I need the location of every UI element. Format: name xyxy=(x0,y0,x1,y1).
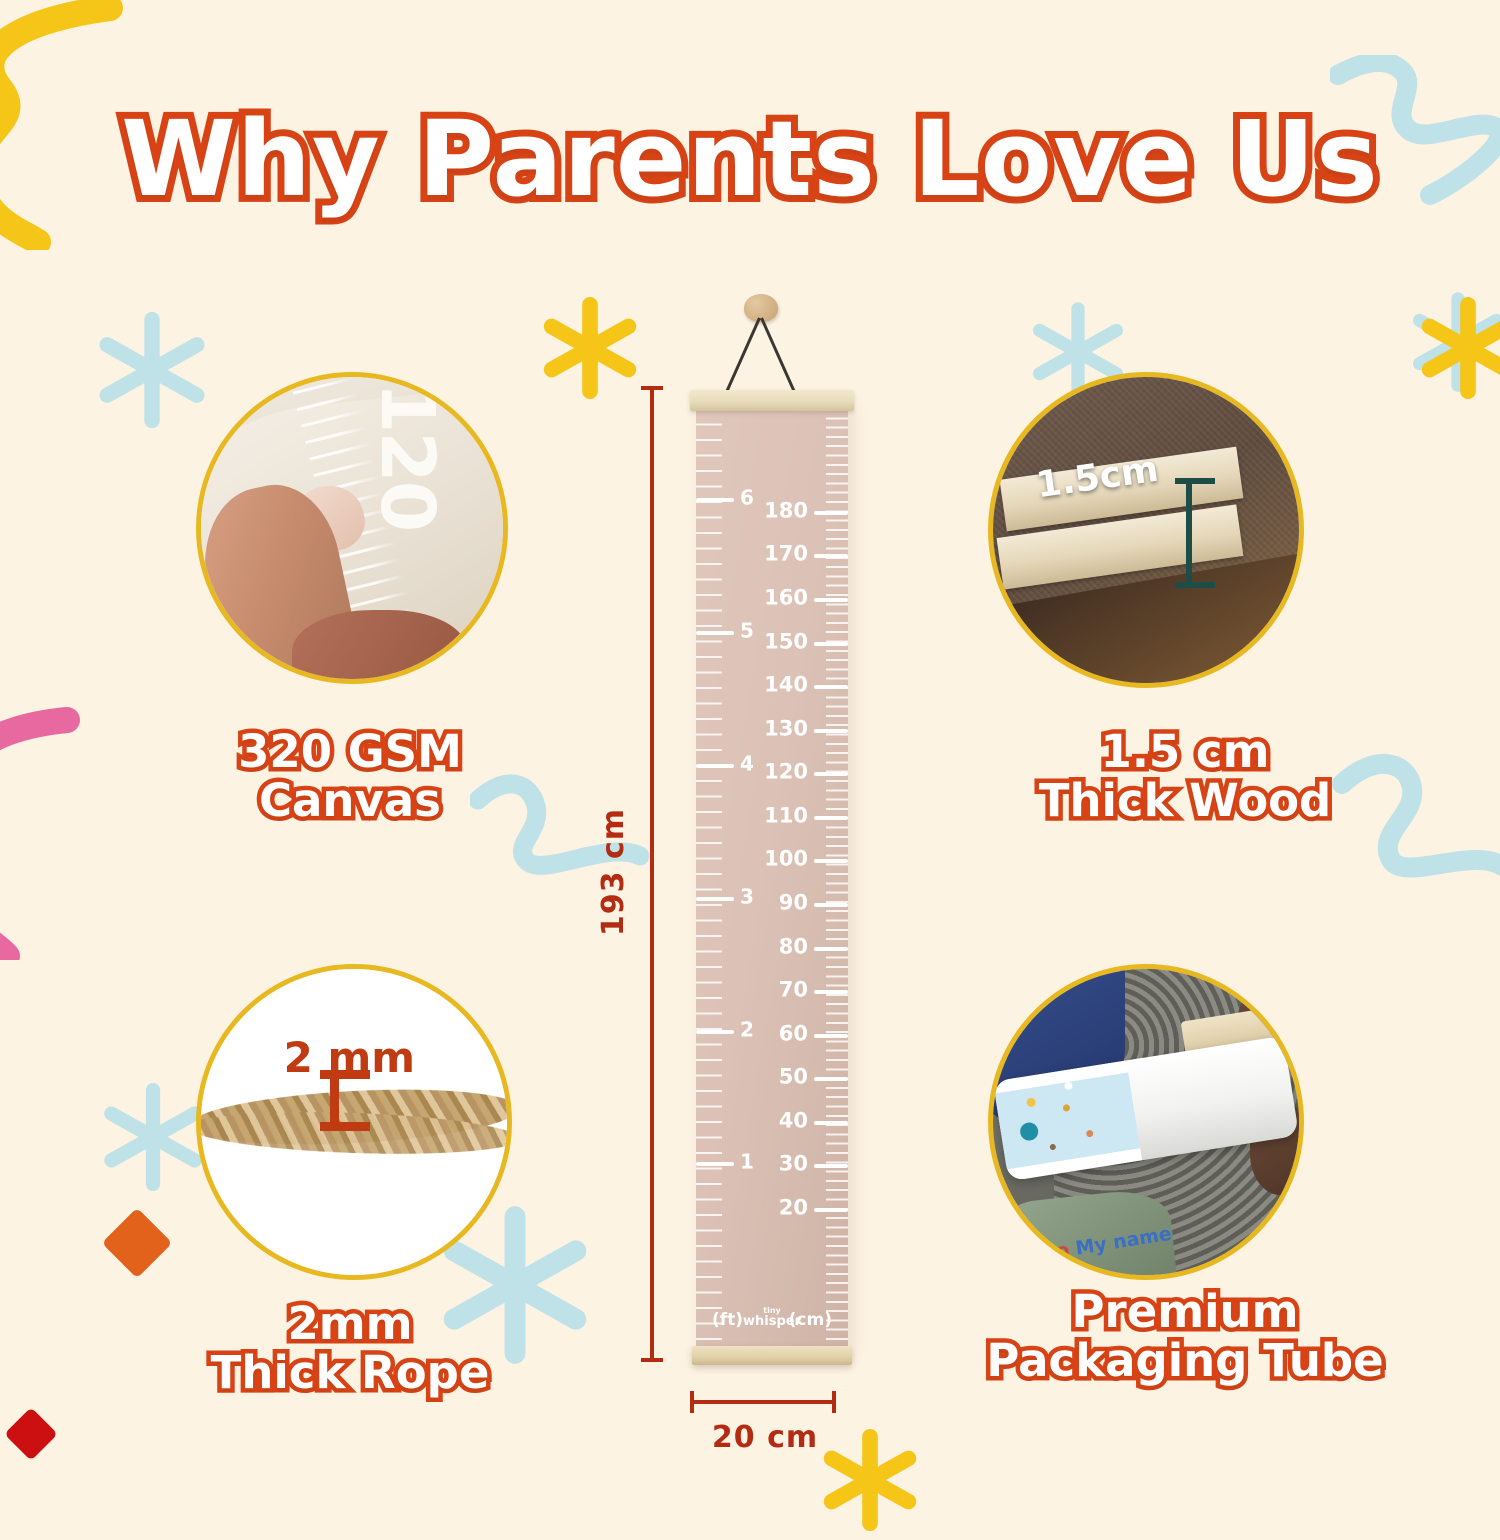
brand-logo: tiny whisper xyxy=(696,1307,848,1328)
feature-label-canvas: 320 GSM Canvas xyxy=(130,728,570,825)
feature-label-tube-line1: Premium xyxy=(945,1288,1425,1337)
photo-packaging-tube: Hello My name xyxy=(988,964,1304,1280)
canvas-ruler-number: 120 xyxy=(365,382,451,530)
cm-major-tick xyxy=(814,903,848,907)
feet-major-tick xyxy=(696,1162,734,1166)
cm-scale-label: 80 xyxy=(779,934,808,958)
cm-major-tick xyxy=(814,1077,848,1081)
yellow-sparkle-decoration-right xyxy=(1408,288,1500,408)
wood-dowel-bottom-bar xyxy=(692,1346,852,1365)
feature-label-rope-line2: Thick Rope xyxy=(130,1349,570,1398)
growth-chart-product: 654321 180170160150140130120110100908070… xyxy=(640,290,900,1470)
cm-scale-label: 150 xyxy=(764,629,808,653)
tube-label-band xyxy=(993,1060,1142,1181)
wood-photo-content: 1.5cm xyxy=(993,377,1299,683)
blue-sparkle-decoration-farright xyxy=(1398,282,1500,402)
cm-scale-label: 110 xyxy=(764,803,808,827)
cm-scale-label: 20 xyxy=(779,1196,808,1220)
height-dimension-line xyxy=(650,386,654,1362)
yellow-sparkle-decoration-center xyxy=(530,288,650,408)
cm-scale-label: 100 xyxy=(764,847,808,871)
feet-major-tick xyxy=(696,631,734,635)
cm-scale-label: 90 xyxy=(779,891,808,915)
cm-major-tick xyxy=(814,729,848,733)
feature-label-wood-line1: 1.5 cm xyxy=(960,728,1410,777)
feature-label-wood: 1.5 cm Thick Wood xyxy=(960,728,1410,825)
cm-scale-label: 140 xyxy=(764,673,808,697)
page-title-text: Why Parents Love Us xyxy=(121,98,1379,220)
cm-major-tick xyxy=(814,859,848,863)
cm-major-tick xyxy=(814,772,848,776)
feet-scale-label: 5 xyxy=(740,619,754,643)
photo-wood-thickness: 1.5cm xyxy=(988,372,1304,688)
cm-scale-label: 30 xyxy=(779,1152,808,1176)
feet-major-tick xyxy=(696,498,734,502)
width-dimension-label: 20 cm xyxy=(640,1420,890,1455)
growth-chart-canvas: 654321 180170160150140130120110100908070… xyxy=(696,408,848,1352)
feature-label-rope: 2mm Thick Rope xyxy=(130,1300,570,1397)
cm-scale-label: 50 xyxy=(779,1065,808,1089)
canvas-photo-content: 120 xyxy=(201,377,503,679)
cm-major-tick xyxy=(814,1034,848,1038)
feature-label-wood-line2: Thick Wood xyxy=(960,777,1410,826)
cm-scale-label: 160 xyxy=(764,586,808,610)
cm-scale-label: 40 xyxy=(779,1108,808,1132)
tube-photo-content: Hello My name xyxy=(993,969,1299,1275)
cm-major-tick xyxy=(814,990,848,994)
red-diamond-decoration xyxy=(4,1407,58,1461)
cm-scale-label: 70 xyxy=(779,978,808,1002)
feature-label-canvas-line1: 320 GSM xyxy=(130,728,570,777)
wood-measure-bracket-icon xyxy=(1186,478,1226,588)
hanging-rope-right xyxy=(760,317,796,393)
photo-canvas-material: 120 xyxy=(196,372,508,684)
hanging-rope-left xyxy=(725,317,761,393)
feet-tick-marks xyxy=(696,408,722,1352)
photo-rope-thickness: 2 mm xyxy=(196,964,512,1280)
feet-scale-label: 4 xyxy=(740,751,754,775)
feature-label-tube-line2: Packaging Tube xyxy=(945,1337,1425,1386)
feet-scale-label: 2 xyxy=(740,1017,754,1041)
cm-scale-label: 60 xyxy=(779,1021,808,1045)
cm-major-tick xyxy=(814,1121,848,1125)
feet-major-tick xyxy=(696,897,734,901)
cm-major-tick xyxy=(814,1208,848,1212)
cm-major-tick xyxy=(814,816,848,820)
wood-dowel-top-bar xyxy=(690,390,854,411)
orange-diamond-decoration xyxy=(102,1208,173,1279)
brand-name-bottom: whisper xyxy=(696,1315,848,1328)
cm-scale-label: 170 xyxy=(764,542,808,566)
width-dimension-line xyxy=(690,1400,836,1404)
feet-major-tick xyxy=(696,764,734,768)
cm-scale-label: 130 xyxy=(764,716,808,740)
cm-major-tick xyxy=(814,1164,848,1168)
feature-label-tube: Premium Packaging Tube xyxy=(945,1288,1425,1385)
cm-major-tick xyxy=(814,598,848,602)
feet-scale-label: 3 xyxy=(740,884,754,908)
feature-label-rope-line1: 2mm xyxy=(130,1300,570,1349)
feet-scale-label: 1 xyxy=(740,1150,754,1174)
feet-scale-label: 6 xyxy=(740,486,754,510)
rope-photo-content: 2 mm xyxy=(201,969,507,1275)
feet-major-tick xyxy=(696,1030,734,1034)
height-dimension-label: 193 cm xyxy=(596,808,631,936)
cm-major-tick xyxy=(814,947,848,951)
page-title: Why Parents Love Us xyxy=(0,98,1500,220)
cm-scale-label: 180 xyxy=(764,498,808,522)
feature-label-canvas-line2: Canvas xyxy=(130,777,570,826)
cm-major-tick xyxy=(814,554,848,558)
cm-major-tick xyxy=(814,685,848,689)
cm-major-tick xyxy=(814,642,848,646)
fingers-shape xyxy=(292,610,467,684)
rope-measure-bracket-icon xyxy=(330,1070,364,1131)
cm-scale-label: 120 xyxy=(764,760,808,784)
cm-major-tick xyxy=(814,511,848,515)
